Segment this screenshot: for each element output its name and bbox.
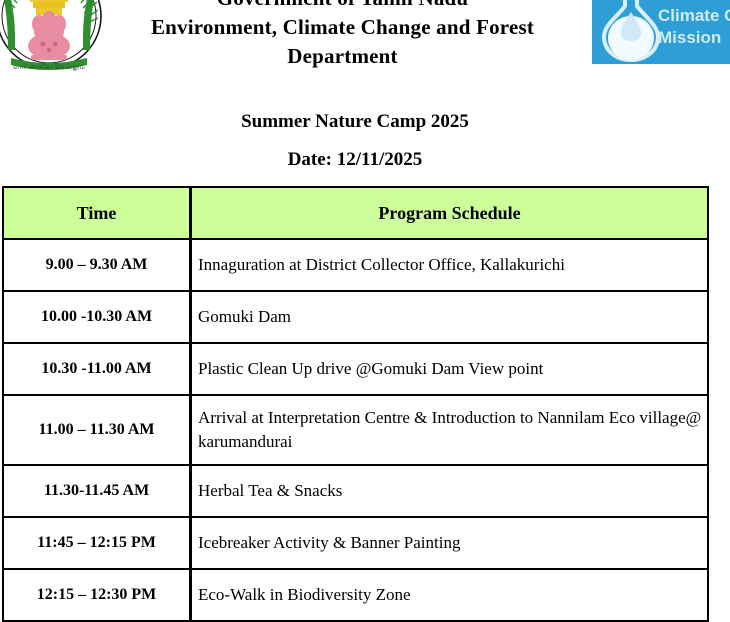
climate-change-mission-logo: Climate Chang Mission	[592, 0, 730, 64]
column-header-program-schedule: Program Schedule	[191, 187, 708, 239]
cell-time: 12:15 – 12:30 PM	[3, 569, 191, 621]
program-schedule-table: Time Program Schedule 9.00 – 9.30 AM Inn…	[2, 186, 709, 622]
government-title-line-3: Department	[95, 42, 590, 71]
svg-text:வாய்மையே வெல்லும்: வாய்மையே வெல்லும்	[13, 63, 86, 71]
cell-program: Arrival at Interpretation Centre & Intro…	[191, 395, 708, 465]
cell-time: 11.30-11.45 AM	[3, 465, 191, 517]
climate-logo-line-1: Climate Chang	[658, 5, 730, 27]
table-row: 11.00 – 11.30 AM Arrival at Interpretati…	[3, 395, 708, 465]
camp-date: Date: 12/11/2025	[0, 148, 710, 172]
table-row: 11.30-11.45 AM Herbal Tea & Snacks	[3, 465, 708, 517]
cell-program: Innaguration at District Collector Offic…	[191, 239, 708, 291]
cell-time: 10.30 -11.00 AM	[3, 343, 191, 395]
cell-time: 11:45 – 12:15 PM	[3, 517, 191, 569]
cell-program: Icebreaker Activity & Banner Painting	[191, 517, 708, 569]
cell-program: Gomuki Dam	[191, 291, 708, 343]
table-header: Time Program Schedule	[3, 187, 708, 239]
table-row: 12:15 – 12:30 PM Eco-Walk in Biodiversit…	[3, 569, 708, 621]
table-row: 10.00 -10.30 AM Gomuki Dam	[3, 291, 708, 343]
government-title: Government of Tamil Nadu Environment, Cl…	[95, 0, 590, 71]
cell-program: Plastic Clean Up drive @Gomuki Dam View …	[191, 343, 708, 395]
column-header-time: Time	[3, 187, 191, 239]
cell-time: 9.00 – 9.30 AM	[3, 239, 191, 291]
table-header-row: Time Program Schedule	[3, 187, 708, 239]
table-row: 11:45 – 12:15 PM Icebreaker Activity & B…	[3, 517, 708, 569]
cell-time: 10.00 -10.30 AM	[3, 291, 191, 343]
climate-logo-line-2: Mission	[658, 27, 730, 49]
cell-program: Eco-Walk in Biodiversity Zone	[191, 569, 708, 621]
climate-logo-text: Climate Chang Mission	[658, 5, 730, 49]
government-title-line-1: Government of Tamil Nadu	[95, 0, 590, 13]
table-row: 10.30 -11.00 AM Plastic Clean Up drive @…	[3, 343, 708, 395]
document-header: வாய்மையே வெல்லும் உ Government of Tamil …	[0, 0, 730, 92]
tamil-nadu-state-emblem-icon: வாய்மையே வெல்லும் உ	[0, 0, 103, 72]
cell-program: Herbal Tea & Snacks	[191, 465, 708, 517]
cell-time: 11.00 – 11.30 AM	[3, 395, 191, 465]
table-row: 9.00 – 9.30 AM Innaguration at District …	[3, 239, 708, 291]
table-body: 9.00 – 9.30 AM Innaguration at District …	[3, 239, 708, 621]
water-drop-icon	[598, 0, 664, 64]
government-title-line-2: Environment, Climate Change and Forest	[95, 13, 590, 42]
camp-title: Summer Nature Camp 2025	[0, 110, 710, 134]
